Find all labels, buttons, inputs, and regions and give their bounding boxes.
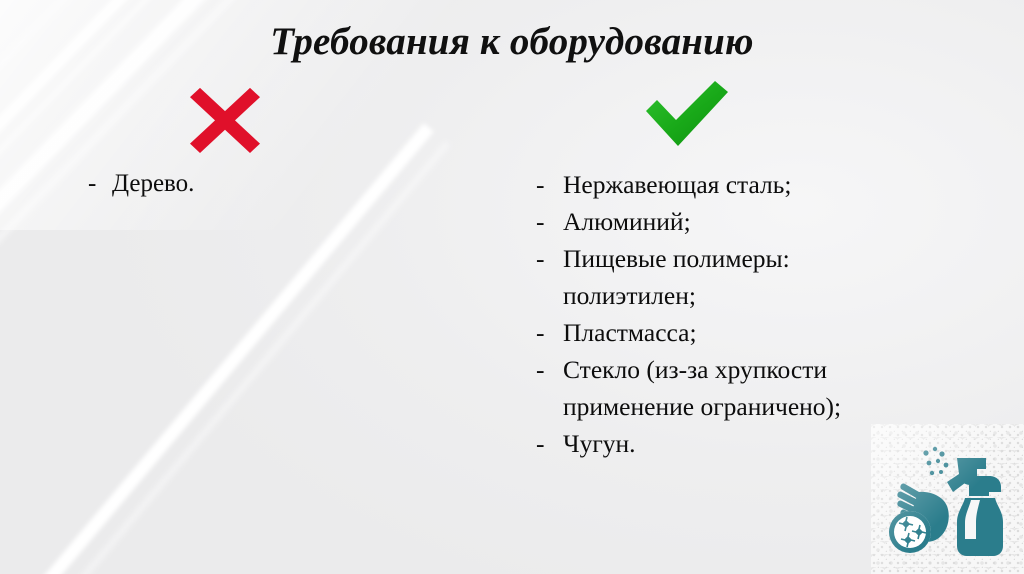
allowed-materials-list: - Нержавеющая сталь; - Алюминий; - Пищев…	[536, 166, 966, 462]
list-item-dash: -	[536, 425, 563, 462]
list-item-dash: -	[536, 166, 563, 203]
list-item-label: полиэтилен;	[563, 277, 966, 314]
spray-hand-germs-icon	[885, 440, 1011, 560]
list-item-dash: -	[536, 240, 563, 277]
list-item-label: Дерево.	[112, 165, 488, 202]
list-item-label: Стекло (из-за хрупкости	[563, 351, 966, 388]
list-item: - Дерево.	[88, 165, 488, 202]
not-allowed-materials-list: - Дерево.	[88, 165, 488, 202]
hand-sanitizing-spray-bottle-image	[871, 424, 1024, 574]
list-item: - Нержавеющая сталь;	[536, 166, 966, 203]
list-item-continuation: - применение ограничено);	[536, 388, 966, 425]
list-item-label: Нержавеющая сталь;	[563, 166, 966, 203]
list-item-dash: -	[536, 203, 563, 240]
list-item-dash: -	[536, 314, 563, 351]
list-item-label: Алюминий;	[563, 203, 966, 240]
list-item-continuation: - полиэтилен;	[536, 277, 966, 314]
list-item-label: применение ограничено);	[563, 388, 966, 425]
list-item-dash: -	[536, 351, 563, 388]
slide-canvas: Требования к оборудованию - Дерево. - Не…	[0, 0, 1024, 574]
list-item: - Стекло (из-за хрупкости	[536, 351, 966, 388]
list-item-label: Пластмасса;	[563, 314, 966, 351]
green-check-mark-icon	[640, 80, 732, 148]
red-cross-mark-icon	[186, 84, 264, 154]
list-item: - Пищевые полимеры:	[536, 240, 966, 277]
list-item-dash: -	[88, 165, 112, 202]
page-title: Требования к оборудованию	[0, 18, 1024, 66]
list-item: - Пластмасса;	[536, 314, 966, 351]
list-item: - Алюминий;	[536, 203, 966, 240]
list-item-label: Пищевые полимеры:	[563, 240, 966, 277]
